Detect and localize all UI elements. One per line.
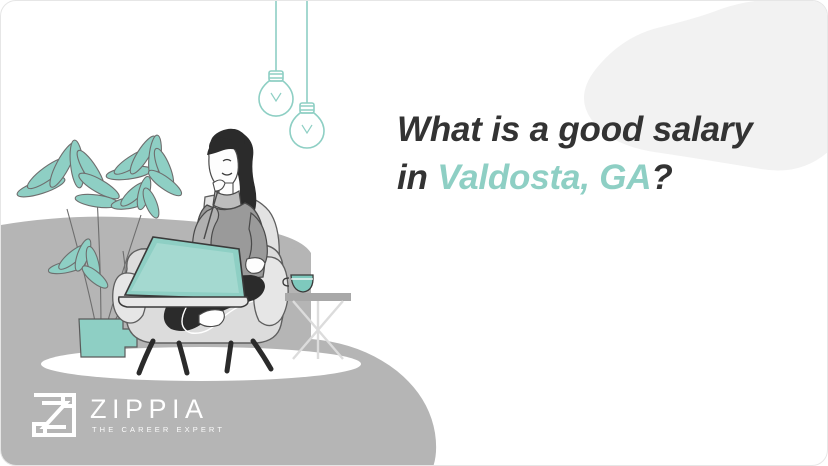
page-title: What is a good salary in Valdosta, GA? bbox=[397, 106, 797, 202]
logo-name: ZIPPIA bbox=[90, 395, 225, 423]
headline-question-mark: ? bbox=[651, 158, 672, 197]
laptop bbox=[119, 237, 248, 307]
zippia-z-mark bbox=[32, 393, 76, 437]
side-table bbox=[285, 293, 351, 359]
zippia-logo[interactable]: ZIPPIA THE CAREER EXPERT bbox=[32, 393, 225, 437]
coffee-cup bbox=[283, 275, 313, 292]
plant-pot bbox=[79, 319, 137, 357]
gray-hill-behind-chair bbox=[1, 219, 301, 361]
hanging-lightbulb-left bbox=[259, 1, 293, 116]
slide-card: What is a good salary in Valdosta, GA? Z… bbox=[0, 0, 828, 466]
floor-shadow-ellipse bbox=[41, 347, 361, 381]
person-thinking bbox=[164, 129, 268, 334]
headline-line-2: in Valdosta, GA? bbox=[397, 154, 797, 202]
headline-location: Valdosta, GA bbox=[437, 158, 651, 197]
hanging-lightbulb-right bbox=[290, 1, 324, 148]
potted-palm-plant bbox=[15, 133, 184, 357]
armchair bbox=[113, 194, 288, 373]
headline-prefix: in bbox=[397, 158, 437, 197]
logo-tagline: THE CAREER EXPERT bbox=[90, 424, 225, 435]
headline-line-1: What is a good salary bbox=[397, 106, 797, 154]
logo-wordmark: ZIPPIA THE CAREER EXPERT bbox=[90, 395, 225, 435]
